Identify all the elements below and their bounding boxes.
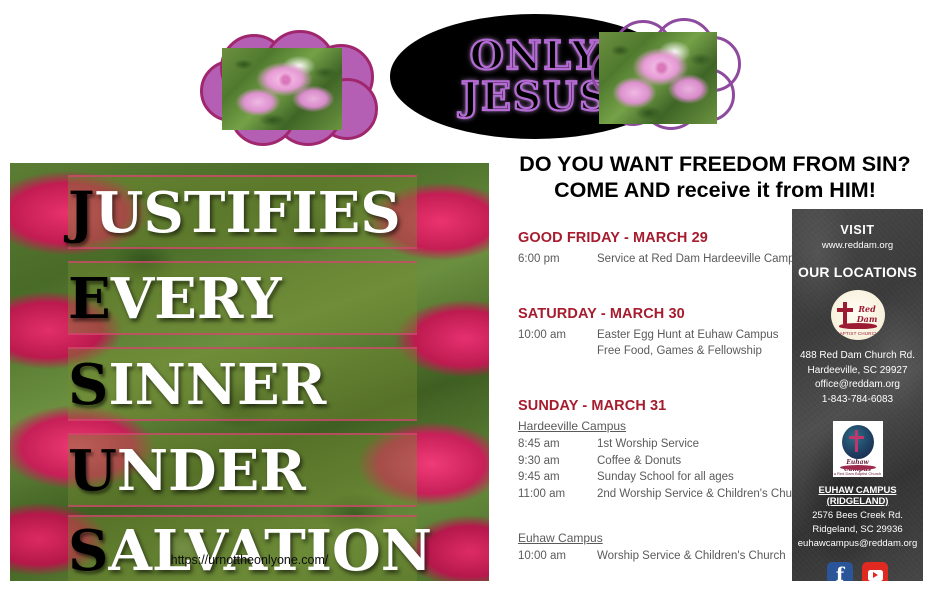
schedule-time: 11:00 am — [518, 486, 597, 503]
schedule-row: 9:30 am Coffee & Donuts — [518, 453, 818, 470]
youtube-icon[interactable] — [862, 562, 888, 581]
schedule-description: Service at Red Dam Hardeeville Campus — [597, 251, 818, 268]
euhaw-address-line2: Ridgeland, SC 29936 — [812, 524, 902, 535]
schedule-row: 6:00 pm Service at Red Dam Hardeeville C… — [518, 251, 818, 268]
schedule-time: 10:00 am — [518, 327, 597, 344]
banner-header: ONLY JESUS — [190, 8, 730, 153]
youtube-glyph — [868, 570, 883, 581]
schedule-time: 9:45 am — [518, 469, 597, 486]
flyer-canvas: ONLY JESUS J USTIFIES E VERY S — [0, 0, 936, 592]
acrostic-initial: J — [68, 185, 95, 241]
acrostic-rest: USTIFIES — [95, 185, 401, 241]
website-link[interactable]: www.reddam.org — [792, 240, 923, 251]
schedule-description: Easter Egg Hunt at Euhaw Campus — [597, 327, 818, 344]
spacer — [518, 368, 818, 398]
schedule-description: 2nd Worship Service & Children's Church — [597, 486, 818, 503]
schedule-block-saturday: SATURDAY - MARCH 30 10:00 am Easter Egg … — [518, 306, 818, 360]
event-schedule: GOOD FRIDAY - MARCH 29 6:00 pm Service a… — [518, 230, 818, 572]
cloud-shape-right — [585, 18, 735, 130]
acrostic-row: E VERY — [68, 263, 417, 335]
cross-icon — [855, 430, 858, 452]
cross-icon — [843, 302, 847, 324]
schedule-campus-hardeeville: Hardeeville Campus — [518, 419, 818, 433]
acrostic-initial: S — [68, 523, 108, 579]
acrostic-initial: S — [68, 357, 108, 413]
schedule-time: 6:00 pm — [518, 251, 597, 268]
schedule-time: 10:00 am — [518, 548, 597, 565]
schedule-description: 1st Worship Service — [597, 436, 818, 453]
acrostic-rest: ALVATION — [108, 523, 432, 579]
acrostic-initial: E — [68, 271, 111, 327]
banner-line-1: ONLY — [470, 37, 600, 76]
spacer — [518, 276, 818, 306]
schedule-row: 11:00 am 2nd Worship Service & Children'… — [518, 486, 818, 503]
reddam-contact-block: 488 Red Dam Church Rd. Hardeeville, SC 2… — [792, 349, 923, 407]
euhaw-email[interactable]: euhawcampus@reddam.org — [798, 538, 917, 549]
schedule-description: Sunday School for all ages — [597, 469, 818, 486]
acrostic-rest: VERY — [111, 271, 282, 327]
logo-subtitle: BAPTIST CHURCH — [831, 331, 885, 336]
logo-swash — [840, 465, 876, 470]
spacer — [518, 511, 818, 529]
cloud-shape-left — [190, 30, 380, 138]
logo-swash — [839, 323, 877, 329]
euhaw-campus-title: EUHAW CAMPUS (RIDGELAND) — [792, 485, 923, 507]
facebook-icon[interactable]: f — [827, 562, 853, 581]
schedule-time: 8:45 am — [518, 436, 597, 453]
logo-oval — [842, 425, 874, 459]
azalea-photo-right — [599, 32, 717, 124]
azalea-photo-left — [222, 48, 342, 130]
acrostic-rest: INNER — [108, 357, 326, 413]
schedule-block-euhaw: Euhaw Campus 10:00 am Worship Service & … — [518, 531, 818, 565]
schedule-row: 9:45 am Sunday School for all ages — [518, 469, 818, 486]
red-dam-baptist-church-logo: Red Dam BAPTIST CHURCH — [831, 290, 885, 340]
acrostic-row: J USTIFIES — [68, 177, 417, 249]
schedule-row: 8:45 am 1st Worship Service — [518, 436, 818, 453]
schedule-block-good-friday: GOOD FRIDAY - MARCH 29 6:00 pm Service a… — [518, 230, 818, 268]
acrostic-row: S ALVATION — [68, 515, 417, 581]
reddam-address-line1: 488 Red Dam Church Rd. — [792, 349, 923, 364]
page-headline: DO YOU WANT FREEDOM FROM SIN? COME AND r… — [505, 152, 925, 203]
our-locations-label: OUR LOCATIONS — [792, 264, 923, 280]
reddam-email[interactable]: office@reddam.org — [792, 378, 923, 393]
jesus-acrostic-image: J USTIFIES E VERY S INNER U NDER S ALVAT… — [10, 163, 489, 581]
social-links: f — [792, 562, 923, 581]
schedule-description-continued: Free Food, Games & Fellowship — [597, 343, 818, 360]
acrostic-row: U NDER — [68, 435, 417, 507]
euhaw-contact-block: 2576 Bees Creek Rd. Ridgeland, SC 29936 … — [792, 509, 923, 550]
locations-panel: VISIT www.reddam.org OUR LOCATIONS Red D… — [792, 209, 923, 581]
schedule-title: SATURDAY - MARCH 30 — [518, 306, 818, 322]
acrostic-rest: NDER — [117, 443, 306, 499]
euhaw-campus-logo: Euhaw Campus a Red Dam Baptist Church — [833, 421, 883, 477]
schedule-title: SUNDAY - MARCH 31 — [518, 398, 818, 414]
reddam-address-line2: Hardeeville, SC 29927 — [792, 364, 923, 379]
euhaw-address-line1: 2576 Bees Creek Rd. — [812, 510, 903, 521]
schedule-row: 10:00 am Easter Egg Hunt at Euhaw Campus — [518, 327, 818, 344]
acrostic-initial: U — [68, 443, 117, 499]
logo-subtitle: a Red Dam Baptist Church — [833, 471, 883, 476]
schedule-block-sunday: SUNDAY - MARCH 31 Hardeeville Campus 8:4… — [518, 398, 818, 503]
acrostic-row: S INNER — [68, 349, 417, 421]
schedule-row: 10:00 am Worship Service & Children's Ch… — [518, 548, 818, 565]
schedule-description: Worship Service & Children's Church — [597, 548, 818, 565]
reddam-phone[interactable]: 1-843-784-6083 — [792, 393, 923, 408]
visit-label: VISIT — [792, 223, 923, 237]
schedule-title: GOOD FRIDAY - MARCH 29 — [518, 230, 818, 246]
logo-wordmark: Red Dam — [850, 304, 885, 324]
schedule-campus-euhaw: Euhaw Campus — [518, 531, 818, 545]
schedule-description: Coffee & Donuts — [597, 453, 818, 470]
schedule-time: 9:30 am — [518, 453, 597, 470]
source-url: https://urnottheonlyone.com/ — [10, 553, 489, 567]
facebook-glyph: f — [836, 566, 844, 581]
